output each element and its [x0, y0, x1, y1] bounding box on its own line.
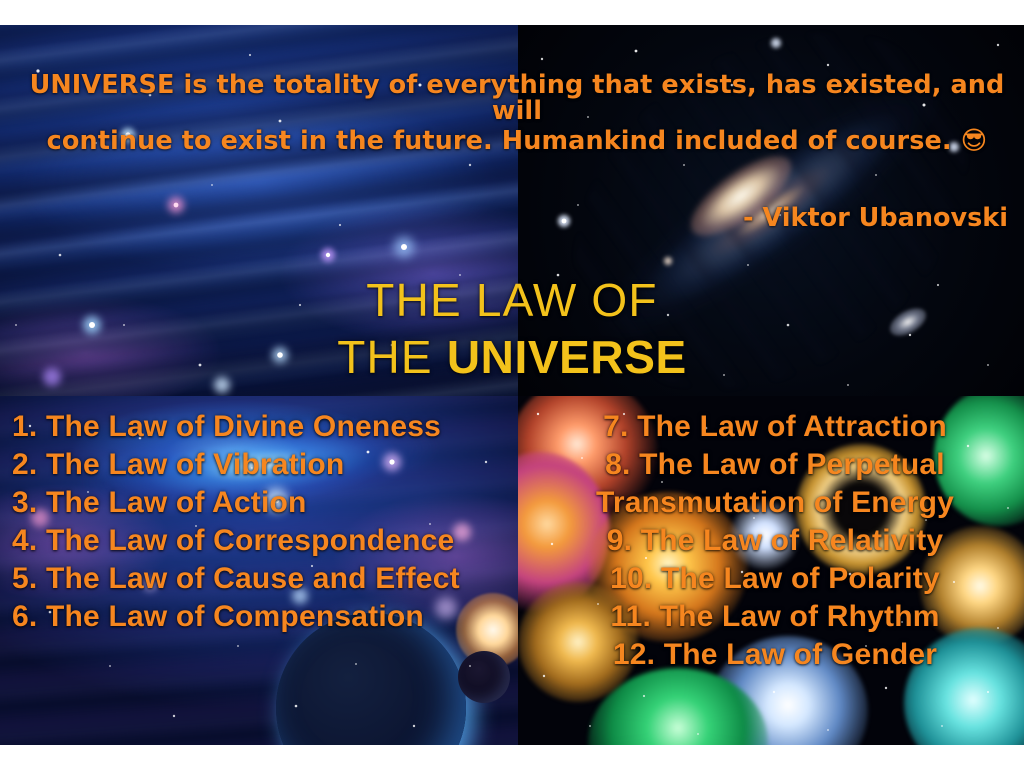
law-label: The Law of Action — [46, 486, 307, 519]
list-item: 7. The Law of Attraction — [540, 408, 1010, 446]
law-number: 4. — [12, 524, 37, 557]
title-line-1: THE LAW OF — [0, 272, 1024, 329]
quote-text-line2: continue to exist in the future. Humanki… — [22, 128, 1012, 154]
law-number: 6. — [12, 600, 37, 633]
title-line-2-strong: UNIVERSE — [447, 331, 687, 383]
law-label: The Law of Divine Oneness — [46, 410, 441, 443]
list-item: 11. The Law of Rhythm — [540, 598, 1010, 636]
law-label: The Law of Cause and Effect — [46, 562, 460, 595]
text-layer: UNIVERSE is the totality of everything t… — [0, 0, 1024, 768]
list-item: 10. The Law of Polarity — [540, 560, 1010, 598]
bottom-white-band — [0, 745, 1024, 768]
law-label: The Law of Attraction — [637, 410, 947, 443]
law-label: The Law of Relativity — [641, 524, 944, 557]
quote-text: UNIVERSE is the totality of everything t… — [22, 72, 1012, 124]
list-item: 1. The Law of Divine Oneness — [12, 408, 512, 446]
law-number: 8. — [605, 448, 630, 481]
list-item: 3. The Law of Action — [12, 484, 512, 522]
top-white-band — [0, 0, 1024, 25]
law-number: 2. — [12, 448, 37, 481]
list-item: 9. The Law of Relativity — [540, 522, 1010, 560]
page-title: THE LAW OF THE UNIVERSE — [0, 272, 1024, 386]
title-line-2-prefix: THE — [337, 331, 447, 383]
list-item: 4. The Law of Correspondence — [12, 522, 512, 560]
list-item: 6. The Law of Compensation — [12, 598, 512, 636]
laws-list-left: 1. The Law of Divine Oneness 2. The Law … — [12, 408, 512, 636]
law-label: The Law of Compensation — [46, 600, 424, 633]
title-line-2: THE UNIVERSE — [0, 329, 1024, 386]
laws-list-right: 7. The Law of Attraction 8. The Law of P… — [540, 408, 1010, 674]
law-label: The Law of Gender — [664, 638, 937, 671]
law-number: 11. — [610, 600, 651, 633]
law-number: 12. — [613, 638, 655, 671]
list-item: 8. The Law of Perpetual Transmutation of… — [540, 446, 1010, 522]
list-item: 12. The Law of Gender — [540, 636, 1010, 674]
law-label: The Law of Vibration — [46, 448, 344, 481]
law-number: 5. — [12, 562, 37, 595]
law-label: The Law of Perpetual Transmutation of En… — [596, 448, 954, 519]
law-number: 3. — [12, 486, 37, 519]
law-label: The Law of Polarity — [661, 562, 940, 595]
list-item: 2. The Law of Vibration — [12, 446, 512, 484]
quote-attribution: - Viktor Ubanovski — [743, 203, 1008, 233]
law-number: 10. — [610, 562, 652, 595]
law-number: 1. — [12, 410, 37, 443]
law-label: The Law of Rhythm — [660, 600, 940, 633]
law-label: The Law of Correspondence — [46, 524, 454, 557]
law-number: 9. — [607, 524, 632, 557]
poster-canvas: UNIVERSE is the totality of everything t… — [0, 0, 1024, 768]
law-number: 7. — [603, 410, 628, 443]
list-item: 5. The Law of Cause and Effect — [12, 560, 512, 598]
